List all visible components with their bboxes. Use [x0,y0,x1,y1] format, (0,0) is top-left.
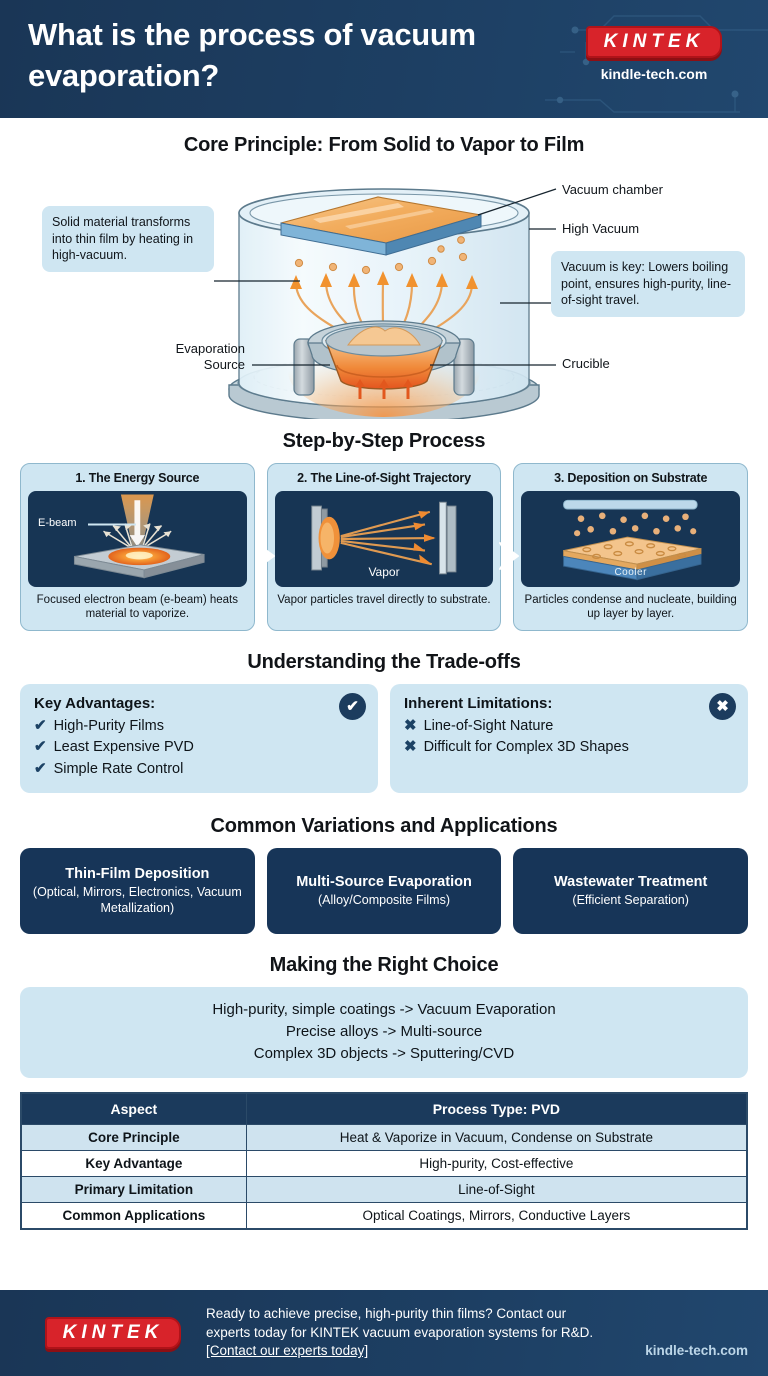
variations-section: Common Variations and Applications Thin-… [0,815,768,934]
limitations-list: ✖Line-of-Sight Nature ✖Difficult for Com… [404,715,734,759]
step-2-caption: Vapor particles travel directly to subst… [275,593,494,607]
step-card-2[interactable]: 2. The Line-of-Sight Trajectory [267,463,502,631]
variation-sub: (Optical, Mirrors, Electronics, Vacuum M… [28,885,247,917]
page-header: What is the process of vacuum evaporatio… [0,0,768,118]
footer-site-url: kindle-tech.com [645,1342,748,1361]
table-cell-aspect: Primary Limitation [22,1177,247,1203]
step-1-illustration: E-beam [28,491,247,587]
footer-kintek-logo: KINTEK [45,1317,182,1349]
callout-solid-material: Solid material transforms into thin film… [42,206,214,272]
step-arrow-2-to-3 [498,541,524,571]
table-row: Common Applications Optical Coatings, Mi… [22,1203,747,1229]
page-title: What is the process of vacuum evaporatio… [28,14,548,96]
advantages-heading: Key Advantages: [34,695,364,712]
label-high-vacuum: High Vacuum [562,221,639,236]
advantage-label: Simple Rate Control [54,759,184,780]
tradeoffs-section: Understanding the Trade-offs ✔ Key Advan… [0,651,768,794]
table-cell-aspect: Common Applications [22,1203,247,1229]
step-card-3[interactable]: 3. Deposition on Substrate [513,463,748,631]
choice-title: Making the Right Choice [0,954,768,977]
step-1-caption: Focused electron beam (e-beam) heats mat… [28,593,247,622]
label-evaporation-source: Evaporation Source [157,341,245,374]
check-icon: ✔ [34,715,47,737]
table-cell-value: Heat & Vaporize in Vacuum, Condense on S… [246,1125,746,1151]
infographic-page: What is the process of vacuum evaporatio… [0,0,768,1376]
table-cell-aspect: Core Principle [22,1125,247,1151]
list-item: ✖Difficult for Complex 3D Shapes [404,736,734,758]
table-cell-value: High-purity, Cost-effective [246,1151,746,1177]
step-1-heading: 1. The Energy Source [28,471,247,485]
check-badge-icon: ✔ [339,693,366,720]
table-cell-value: Optical Coatings, Mirrors, Conductive La… [246,1203,746,1229]
cross-icon: ✖ [404,715,417,737]
table-header-cell: Process Type: PVD [246,1094,746,1125]
list-item: ✖Line-of-Sight Nature [404,715,734,737]
steps-title: Step-by-Step Process [0,430,768,453]
choice-line: Complex 3D objects -> Sputtering/CVD [30,1043,738,1065]
core-principle-title: Core Principle: From Solid to Vapor to F… [0,118,768,157]
cross-icon: ✖ [404,736,417,758]
list-item: ✔Least Expensive PVD [34,736,364,758]
choice-box: High-purity, simple coatings -> Vacuum E… [20,987,748,1078]
choice-line: Precise alloys -> Multi-source [30,1021,738,1043]
table-cell-aspect: Key Advantage [22,1151,247,1177]
step-3-art-label: Cooler [521,567,740,578]
limitation-label: Difficult for Complex 3D Shapes [424,737,629,758]
step-3-heading: 3. Deposition on Substrate [521,471,740,485]
list-item: ✔High-Purity Films [34,715,364,737]
table-cell-value: Line-of-Sight [246,1177,746,1203]
vacuum-chamber-diagram: Solid material transforms into thin film… [0,157,768,419]
footer-kintek-logo-text: KINTEK [63,1323,164,1342]
advantages-card: ✔ Key Advantages: ✔High-Purity Films ✔Le… [20,684,378,794]
variation-sub: (Alloy/Composite Films) [318,893,450,909]
choice-line: High-purity, simple coatings -> Vacuum E… [30,999,738,1021]
limitations-heading: Inherent Limitations: [404,695,734,712]
variation-card-wastewater[interactable]: Wastewater Treatment (Efficient Separati… [513,848,748,934]
variation-name: Multi-Source Evaporation [296,874,472,891]
step-2-heading: 2. The Line-of-Sight Trajectory [275,471,494,485]
step-1-art-label: E-beam [38,517,77,529]
step-card-1[interactable]: 1. The Energy Source [20,463,255,631]
steps-row: 1. The Energy Source [0,463,768,631]
variation-card-thin-film[interactable]: Thin-Film Deposition (Optical, Mirrors, … [20,848,255,934]
page-footer: KINTEK Ready to achieve precise, high-pu… [0,1290,768,1376]
header-brand: KINTEK kindle-tech.com [564,26,744,82]
advantages-list: ✔High-Purity Films ✔Least Expensive PVD … [34,715,364,781]
core-principle-section: Core Principle: From Solid to Vapor to F… [0,118,768,428]
label-vacuum-chamber: Vacuum chamber [562,182,663,197]
step-2-illustration: Vapor [275,491,494,587]
tradeoffs-row: ✔ Key Advantages: ✔High-Purity Films ✔Le… [0,684,768,794]
table-header-cell: Aspect [22,1094,247,1125]
check-icon: ✔ [34,736,47,758]
advantage-label: High-Purity Films [54,716,164,737]
table-row: Core Principle Heat & Vaporize in Vacuum… [22,1125,747,1151]
variation-sub: (Efficient Separation) [572,893,689,909]
steps-section: Step-by-Step Process 1. The Energy Sourc… [0,430,768,631]
variation-name: Thin-Film Deposition [65,866,209,883]
table-row: Key Advantage High-purity, Cost-effectiv… [22,1151,747,1177]
footer-brand: KINTEK [20,1317,206,1349]
check-icon: ✔ [34,758,47,780]
cross-badge-icon: ✖ [709,693,736,720]
variation-card-multi-source[interactable]: Multi-Source Evaporation (Alloy/Composit… [267,848,502,934]
table-row: Primary Limitation Line-of-Sight [22,1177,747,1203]
summary-table-wrap: Aspect Process Type: PVD Core Principle … [20,1092,748,1230]
kintek-logo-text: KINTEK [604,32,705,51]
tradeoffs-title: Understanding the Trade-offs [0,651,768,674]
summary-table: Aspect Process Type: PVD Core Principle … [21,1093,747,1229]
footer-line-1: Ready to achieve precise, high-purity th… [206,1305,748,1324]
table-header-row: Aspect Process Type: PVD [22,1094,747,1125]
footer-line-2: experts today for KINTEK vacuum evaporat… [206,1324,748,1343]
label-crucible: Crucible [562,356,610,371]
callout-vacuum-is-key: Vacuum is key: Lowers boiling point, ens… [551,251,745,317]
step-3-caption: Particles condense and nucleate, buildin… [521,593,740,622]
kintek-logo: KINTEK [586,26,723,58]
variations-row: Thin-Film Deposition (Optical, Mirrors, … [0,848,768,934]
choice-section: Making the Right Choice High-purity, sim… [0,954,768,1078]
variation-name: Wastewater Treatment [554,874,707,891]
limitations-card: ✖ Inherent Limitations: ✖Line-of-Sight N… [390,684,748,794]
step-2-art-label: Vapor [275,565,494,579]
contact-experts-link[interactable]: [Contact our experts today] [206,1343,368,1358]
header-site-url: kindle-tech.com [564,66,744,82]
advantage-label: Least Expensive PVD [54,737,194,758]
limitation-label: Line-of-Sight Nature [424,716,554,737]
step-3-illustration: Cooler [521,491,740,587]
footer-text: Ready to achieve precise, high-purity th… [206,1305,748,1361]
variations-title: Common Variations and Applications [0,815,768,838]
list-item: ✔Simple Rate Control [34,758,364,780]
step-arrow-1-to-2 [254,541,280,571]
